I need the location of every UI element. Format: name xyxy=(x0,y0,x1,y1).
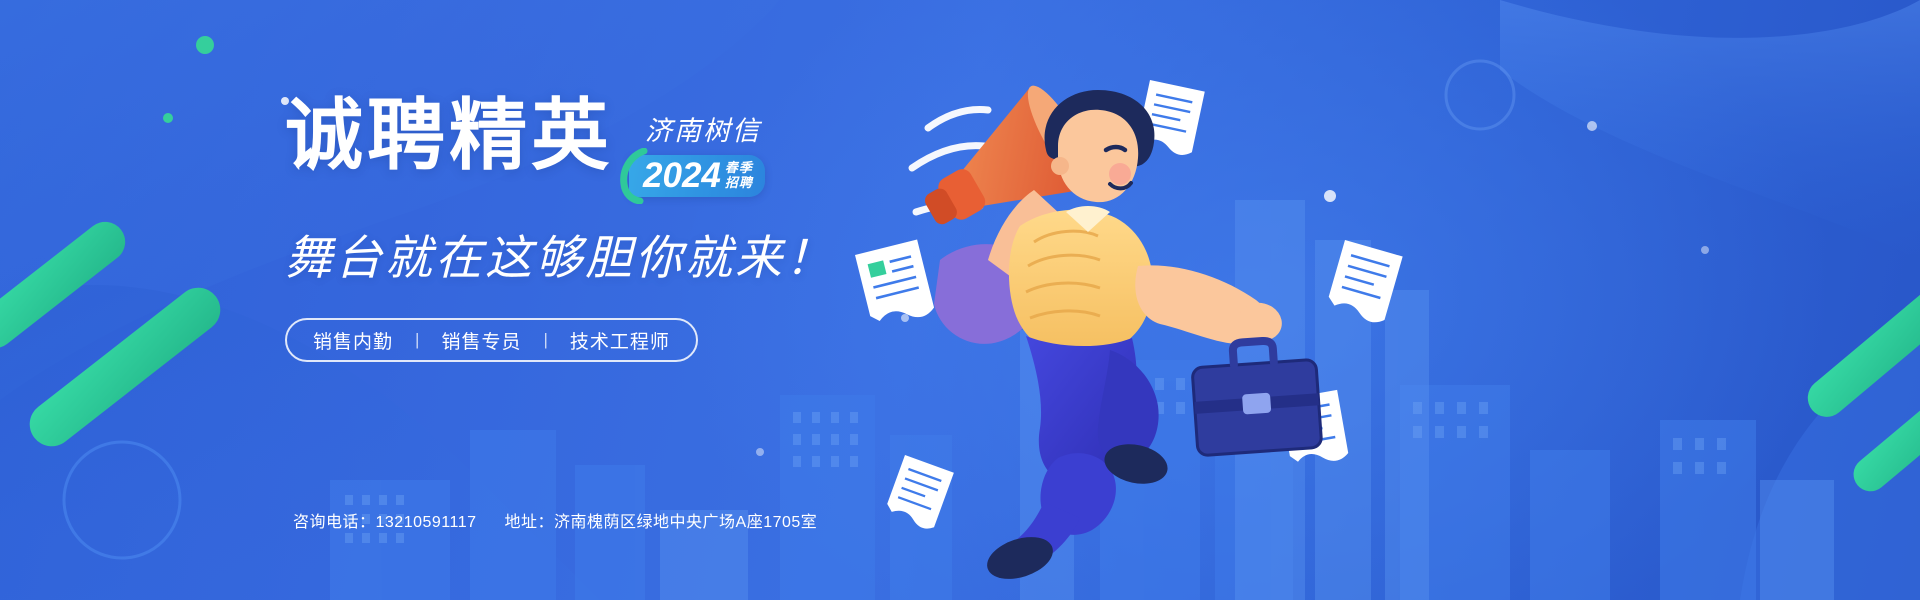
job-positions-pill: 销售内勤 | 销售专员 | 技术工程师 xyxy=(285,318,698,362)
badge-season-char-4: 聘 xyxy=(739,176,752,191)
tag-separator: | xyxy=(415,330,419,350)
contact-phone: 咨询电话：13210591117 xyxy=(293,508,477,532)
job-tag-sales-specialist[interactable]: 销售专员 xyxy=(441,327,521,354)
page-title: 诚聘精英 xyxy=(285,95,613,177)
job-tag-sales-assistant[interactable]: 销售内勤 xyxy=(313,327,393,354)
job-tag-technical-engineer[interactable]: 技术工程师 xyxy=(570,327,670,354)
season-badge: 2024 春 季 招 聘 xyxy=(629,155,765,197)
contact-address: 地址：济南槐荫区绿地中央广场A座1705室 xyxy=(505,508,818,532)
badge-season: 春 季 招 聘 xyxy=(725,161,752,190)
recruitment-banner: 诚聘精英 济南树信 2024 春 季 招 聘 xyxy=(0,0,1920,600)
badge-year: 2024 xyxy=(643,158,721,193)
contact-row: 咨询电话：13210591117 地址：济南槐荫区绿地中央广场A座1705室 xyxy=(293,508,817,532)
badge-season-char-3: 招 xyxy=(725,176,738,191)
brand-badge-group: 济南树信 2024 春 季 招 聘 xyxy=(629,95,765,197)
tag-separator: | xyxy=(543,330,547,350)
company-name: 济南树信 xyxy=(645,109,761,148)
swoosh-accent-icon xyxy=(616,148,650,204)
headline-row: 诚聘精英 济南树信 2024 春 季 招 聘 xyxy=(285,95,985,197)
banner-text-block: 诚聘精英 济南树信 2024 春 季 招 聘 xyxy=(285,95,985,362)
page-subtitle: 舞台就在这够胆你就来！ xyxy=(285,219,985,288)
badge-season-char-2: 季 xyxy=(739,161,752,176)
badge-season-char-1: 春 xyxy=(725,161,738,176)
